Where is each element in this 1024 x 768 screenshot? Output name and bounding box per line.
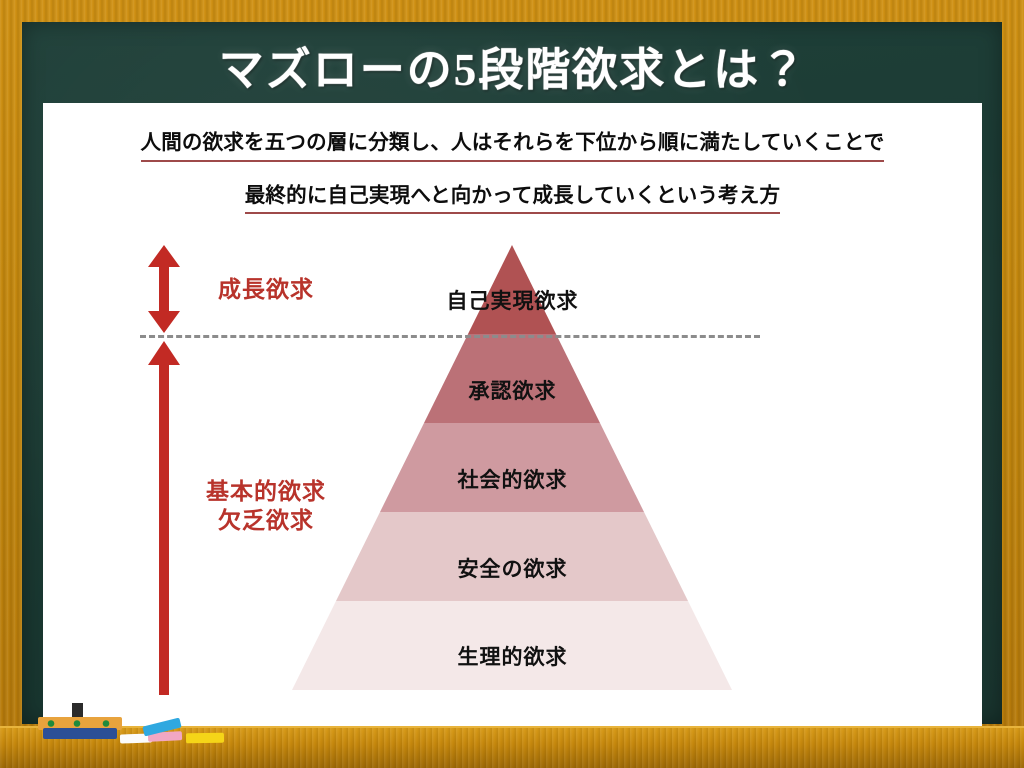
subtitle-line-2: 最終的に自己実現へと向かって成長していくという考え方 bbox=[43, 184, 982, 215]
growth-needs-label: 成長欲求 bbox=[171, 275, 361, 304]
subtitle-block: 人間の欲求を五つの層に分類し、人はそれらを下位から順に満たしていくことで 最終的… bbox=[43, 131, 982, 214]
slide-root: マズローの5段階欲求とは？ 人間の欲求を五つの層に分類し、人はそれらを下位から順… bbox=[0, 0, 1024, 768]
page-title: マズローの5段階欲求とは？ bbox=[43, 33, 983, 98]
eraser-stud-right bbox=[103, 720, 110, 727]
subtitle-line-1-text: 人間の欲求を五つの層に分類し、人はそれらを下位から順に満たしていくことで bbox=[141, 131, 885, 162]
pyramid-tier-2-label: 承認欲求 bbox=[43, 375, 982, 405]
eraser-stud-mid bbox=[74, 720, 81, 727]
subtitle-line-2-text: 最終的に自己実現へと向かって成長していくという考え方 bbox=[245, 184, 781, 215]
content-panel: 人間の欲求を五つの層に分類し、人はそれらを下位から順に満たしていくことで 最終的… bbox=[43, 103, 982, 748]
blackboard-eraser bbox=[38, 703, 122, 744]
pyramid-tier-5-label: 生理的欲求 bbox=[43, 641, 982, 671]
basic-needs-label-line-1: 基本的欲求 bbox=[206, 478, 326, 504]
chalk-yellow bbox=[186, 733, 224, 744]
eraser-body bbox=[43, 728, 117, 739]
basic-needs-label-line-2: 欠乏欲求 bbox=[218, 507, 314, 533]
pyramid-tier-4-label: 安全の欲求 bbox=[43, 553, 982, 583]
subtitle-line-1: 人間の欲求を五つの層に分類し、人はそれらを下位から順に満たしていくことで bbox=[43, 131, 982, 162]
needs-divider-line bbox=[140, 335, 760, 338]
basic-needs-label: 基本的欲求 欠乏欲求 bbox=[171, 477, 361, 536]
eraser-stud-left bbox=[48, 720, 55, 727]
